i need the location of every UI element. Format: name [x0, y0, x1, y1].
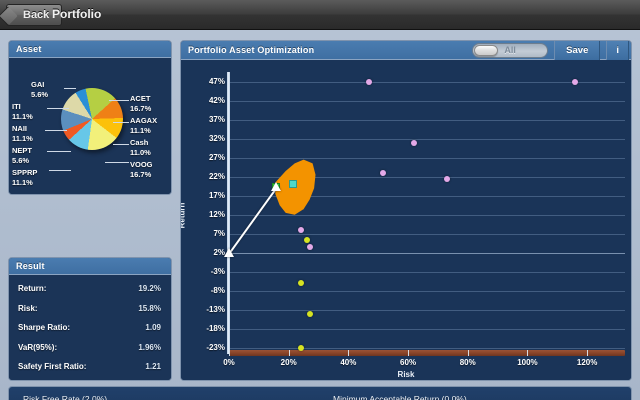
- pie-leader-line: [47, 151, 71, 152]
- pie-leader-line: [113, 122, 129, 123]
- slider-minimum-acceptable-return: Minimum Acceptable Return (0.0%): [319, 387, 619, 400]
- page-title: Portfolio: [52, 7, 101, 21]
- pie-label-pct: 16.7%: [130, 170, 151, 179]
- result-key: Safety First Ratio:: [18, 362, 86, 371]
- data-point[interactable]: [380, 170, 386, 176]
- chart-header-controls: All Save i: [472, 41, 629, 59]
- pie-label-gai: GAI5.6%: [31, 80, 48, 99]
- slider-risk-free-rate: Risk Free Rate (2.0%): [9, 387, 309, 400]
- pie-label-pct: 11.1%: [130, 126, 151, 135]
- pie-leader-line: [113, 144, 129, 145]
- result-panel: Result Return:19.2%Risk:15.8%Sharpe Rati…: [8, 257, 172, 381]
- result-key: VaR(95%):: [18, 343, 57, 352]
- data-point[interactable]: [298, 227, 304, 233]
- page-body: Asset ACET16.7%AAGAX11.1%Cash11.0%VOOG16…: [0, 30, 640, 400]
- result-value: 1.96%: [138, 343, 161, 352]
- marker-triangle[interactable]: [224, 248, 234, 257]
- data-point-square[interactable]: [289, 180, 297, 188]
- chart-panel-header: Portfolio Asset Optimization All Save i: [181, 41, 631, 60]
- pie-graphic: [61, 88, 123, 150]
- data-point[interactable]: [444, 176, 450, 182]
- pie-label-pct: 11.1%: [12, 112, 33, 121]
- pie-label-name: GAI: [31, 80, 44, 89]
- result-key: Risk:: [18, 304, 38, 313]
- portfolio-chart-panel: Portfolio Asset Optimization All Save i …: [180, 40, 632, 381]
- pie-label-name: SPPRP: [12, 168, 37, 177]
- all-assets-toggle[interactable]: All: [472, 43, 548, 58]
- asset-panel-header: Asset: [9, 41, 171, 58]
- pie-label-name: ACET: [130, 94, 150, 103]
- pie-label-pct: 11.1%: [12, 178, 33, 187]
- pie-label-cash: Cash11.0%: [130, 138, 151, 157]
- asset-pie-chart[interactable]: ACET16.7%AAGAX11.1%Cash11.0%VOOG16.7%SPP…: [9, 58, 171, 194]
- result-value: 15.8%: [138, 304, 161, 313]
- scatter-plot[interactable]: 47%42%37%32%27%22%17%12%7%2%-3%-8%-13%-1…: [181, 60, 631, 380]
- result-key: Sharpe Ratio:: [18, 323, 70, 332]
- data-point[interactable]: [304, 237, 310, 243]
- pie-leader-line: [109, 100, 129, 101]
- pie-leader-line: [49, 170, 71, 171]
- pie-label-name: NAII: [12, 124, 27, 133]
- pie-leader-line: [64, 88, 76, 89]
- result-row: VaR(95%):1.96%: [9, 338, 171, 358]
- asset-panel-title: Asset: [16, 44, 42, 54]
- asset-panel-body: ACET16.7%AAGAX11.1%Cash11.0%VOOG16.7%SPP…: [9, 58, 171, 194]
- data-point[interactable]: [298, 345, 304, 351]
- result-row: Risk:15.8%: [9, 299, 171, 319]
- result-row: Safety First Ratio:1.21: [9, 357, 171, 377]
- pie-leader-line: [45, 130, 67, 131]
- slider-label: Minimum Acceptable Return (0.0%): [333, 394, 467, 400]
- result-row: Return:19.2%: [9, 279, 171, 299]
- slider-label: Risk Free Rate (2.0%): [23, 394, 107, 400]
- app-root: Back Portfolio Asset ACET16.7%AAGAX11.1%…: [0, 0, 640, 400]
- result-panel-body: Return:19.2%Risk:15.8%Sharpe Ratio:1.09V…: [9, 275, 171, 380]
- asset-panel: Asset ACET16.7%AAGAX11.1%Cash11.0%VOOG16…: [8, 40, 172, 195]
- marker-triangle[interactable]: [271, 182, 281, 191]
- data-point[interactable]: [298, 280, 304, 286]
- data-point[interactable]: [307, 244, 313, 250]
- pie-label-name: Cash: [130, 138, 148, 147]
- back-button-label: Back: [23, 9, 49, 21]
- data-point[interactable]: [307, 311, 313, 317]
- pie-label-name: NEPT: [12, 146, 32, 155]
- pie-label-pct: 16.7%: [130, 104, 151, 113]
- pie-label-pct: 5.6%: [31, 90, 48, 99]
- toggle-knob[interactable]: [474, 45, 498, 56]
- data-point[interactable]: [411, 140, 417, 146]
- pie-label-aagax: AAGAX11.1%: [130, 116, 157, 135]
- navigation-bar: Back Portfolio: [0, 0, 640, 30]
- pie-label-pct: 11.1%: [12, 134, 33, 143]
- data-point[interactable]: [572, 79, 578, 85]
- pie-leader-line: [105, 162, 129, 163]
- save-button[interactable]: Save: [554, 41, 600, 60]
- chart-panel-title: Portfolio Asset Optimization: [188, 45, 314, 55]
- result-panel-header: Result: [9, 258, 171, 275]
- efficient-frontier-region: [181, 60, 631, 380]
- pie-label-nept: NEPT5.6%: [12, 146, 32, 165]
- result-value: 1.21: [145, 362, 161, 371]
- result-key: Return:: [18, 284, 46, 293]
- pie-label-name: AAGAX: [130, 116, 157, 125]
- info-icon[interactable]: i: [606, 41, 629, 60]
- pie-label-voog: VOOG16.7%: [130, 160, 153, 179]
- pie-label-spprp: SPPRP11.1%: [12, 168, 37, 187]
- pie-label-naii: NAII11.1%: [12, 124, 33, 143]
- parameter-slider-bar: Risk Free Rate (2.0%)Minimum Acceptable …: [8, 386, 632, 400]
- result-row: Sharpe Ratio:1.09: [9, 318, 171, 338]
- pie-label-pct: 11.0%: [130, 148, 151, 157]
- save-button-label: Save: [566, 45, 588, 56]
- pie-label-name: VOOG: [130, 160, 153, 169]
- pie-label-acet: ACET16.7%: [130, 94, 151, 113]
- result-panel-title: Result: [16, 261, 45, 271]
- pie-leader-line: [47, 108, 69, 109]
- pie-label-name: ITI: [12, 102, 21, 111]
- result-value: 19.2%: [138, 284, 161, 293]
- info-button-label: i: [616, 45, 619, 56]
- chart-panel-body: 47%42%37%32%27%22%17%12%7%2%-3%-8%-13%-1…: [181, 60, 631, 380]
- pie-label-iti: ITI11.1%: [12, 102, 33, 121]
- data-point[interactable]: [366, 79, 372, 85]
- result-value: 1.09: [145, 323, 161, 332]
- pie-label-pct: 5.6%: [12, 156, 29, 165]
